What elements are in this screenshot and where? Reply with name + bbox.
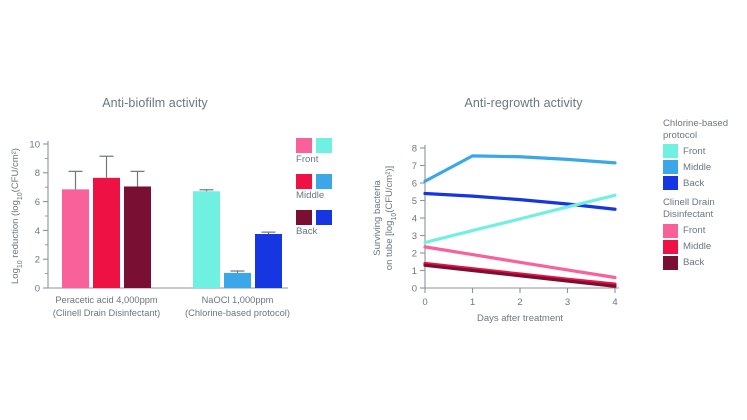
legend-item-chlorine-middle: Middle [663, 160, 747, 174]
legend-group-title-clinell: Clinell Drain Disinfectant [663, 197, 747, 220]
series-line [425, 156, 615, 181]
series-line [425, 265, 615, 286]
svg-text:(Clinell Drain Disinfectant): (Clinell Drain Disinfectant) [53, 308, 160, 318]
svg-text:3: 3 [412, 231, 417, 242]
swatch-chlorine-front-2 [663, 144, 678, 158]
svg-text:4: 4 [35, 226, 40, 237]
legend-group-chlorine: Chlorine-based protocol Front Middle Bac… [663, 118, 747, 190]
bar [224, 273, 251, 288]
anti-biofilm-legend: Front Middle Back [296, 138, 362, 246]
legend-item-clinell-back: Back [663, 256, 747, 270]
svg-text:on tube [log10(CFU/cm²)]: on tube [log10(CFU/cm²)] [384, 166, 398, 270]
svg-text:Peracetic acid 4,000ppm: Peracetic acid 4,000ppm [55, 295, 158, 305]
bar [93, 178, 120, 288]
swatch-chlorine-front [316, 138, 332, 153]
svg-text:1: 1 [470, 297, 475, 308]
svg-text:0: 0 [412, 283, 417, 294]
legend-item-clinell-middle: Middle [663, 240, 747, 254]
swatch-chlorine-back [316, 210, 332, 225]
legend-label-front: Front [296, 154, 362, 165]
bar [255, 234, 282, 288]
legend-entry-back: Back [296, 210, 362, 237]
legend-entry-front: Front [296, 138, 362, 165]
svg-text:(Chlorine-based protocol): (Chlorine-based protocol) [185, 308, 290, 318]
svg-text:NaOCl 1,000ppm: NaOCl 1,000ppm [202, 295, 274, 305]
legend-label-chlorine-front: Front [683, 146, 705, 157]
legend-label-clinell-middle: Middle [683, 241, 711, 252]
legend-label-middle: Middle [296, 190, 362, 201]
legend-item-chlorine-back: Back [663, 176, 747, 190]
legend-item-chlorine-front: Front [663, 144, 747, 158]
legend-group-title-clinell-line2: Disinfectant [663, 209, 713, 220]
svg-text:2: 2 [35, 255, 40, 266]
svg-text:1: 1 [412, 266, 417, 277]
legend-entry-middle: Middle [296, 174, 362, 201]
svg-text:2: 2 [412, 248, 417, 259]
svg-text:0: 0 [422, 297, 427, 308]
anti-regrowth-title: Anti-regrowth activity [335, 96, 712, 110]
svg-text:3: 3 [565, 297, 570, 308]
swatch-clinell-middle-2 [663, 240, 678, 254]
legend-group-title-chlorine-line2: protocol [663, 130, 697, 141]
legend-label-chlorine-middle: Middle [683, 162, 711, 173]
svg-text:Days after treatment: Days after treatment [477, 313, 563, 324]
legend-label-chlorine-back: Back [683, 178, 704, 189]
swatch-clinell-back [296, 210, 312, 225]
bar [62, 189, 89, 288]
swatch-clinell-back-2 [663, 256, 678, 270]
svg-text:Surviving bacteria: Surviving bacteria [372, 180, 383, 256]
swatch-chlorine-middle [316, 174, 332, 189]
svg-text:2: 2 [517, 297, 522, 308]
anti-regrowth-chart: 01234567801234Days after treatmentSurviv… [370, 80, 670, 320]
swatch-chlorine-middle-2 [663, 160, 678, 174]
legend-group-title-chlorine: Chlorine-based protocol [663, 118, 747, 141]
swatch-clinell-front [296, 138, 312, 153]
svg-text:8: 8 [35, 168, 40, 179]
anti-regrowth-legend: Chlorine-based protocol Front Middle Bac… [663, 118, 747, 277]
legend-label-clinell-back: Back [683, 257, 704, 268]
svg-text:5: 5 [412, 196, 417, 207]
svg-text:8: 8 [412, 143, 417, 154]
svg-text:4: 4 [412, 213, 417, 224]
svg-text:0: 0 [35, 283, 40, 294]
legend-label-back: Back [296, 226, 362, 237]
figure-root: Anti-biofilm activity 0246810Log10 reduc… [0, 0, 747, 420]
anti-biofilm-title: Anti-biofilm activity [0, 96, 340, 110]
swatch-clinell-front-2 [663, 224, 678, 238]
svg-text:6: 6 [35, 197, 40, 208]
svg-text:4: 4 [612, 297, 617, 308]
series-line [425, 195, 615, 242]
svg-text:7: 7 [412, 161, 417, 172]
svg-text:10: 10 [29, 139, 40, 150]
bar [193, 191, 220, 288]
legend-group-title-chlorine-line1: Chlorine-based [663, 118, 728, 129]
swatch-clinell-middle [296, 174, 312, 189]
svg-text:Log10 reduction (log10(CFU/cm²: Log10 reduction (log10(CFU/cm²) [10, 148, 24, 284]
legend-group-title-clinell-line1: Clinell Drain [663, 197, 715, 208]
bar [124, 186, 151, 288]
svg-text:6: 6 [412, 178, 417, 189]
legend-group-clinell: Clinell Drain Disinfectant Front Middle … [663, 197, 747, 269]
legend-item-clinell-front: Front [663, 224, 747, 238]
legend-label-clinell-front: Front [683, 225, 705, 236]
swatch-chlorine-back-2 [663, 176, 678, 190]
